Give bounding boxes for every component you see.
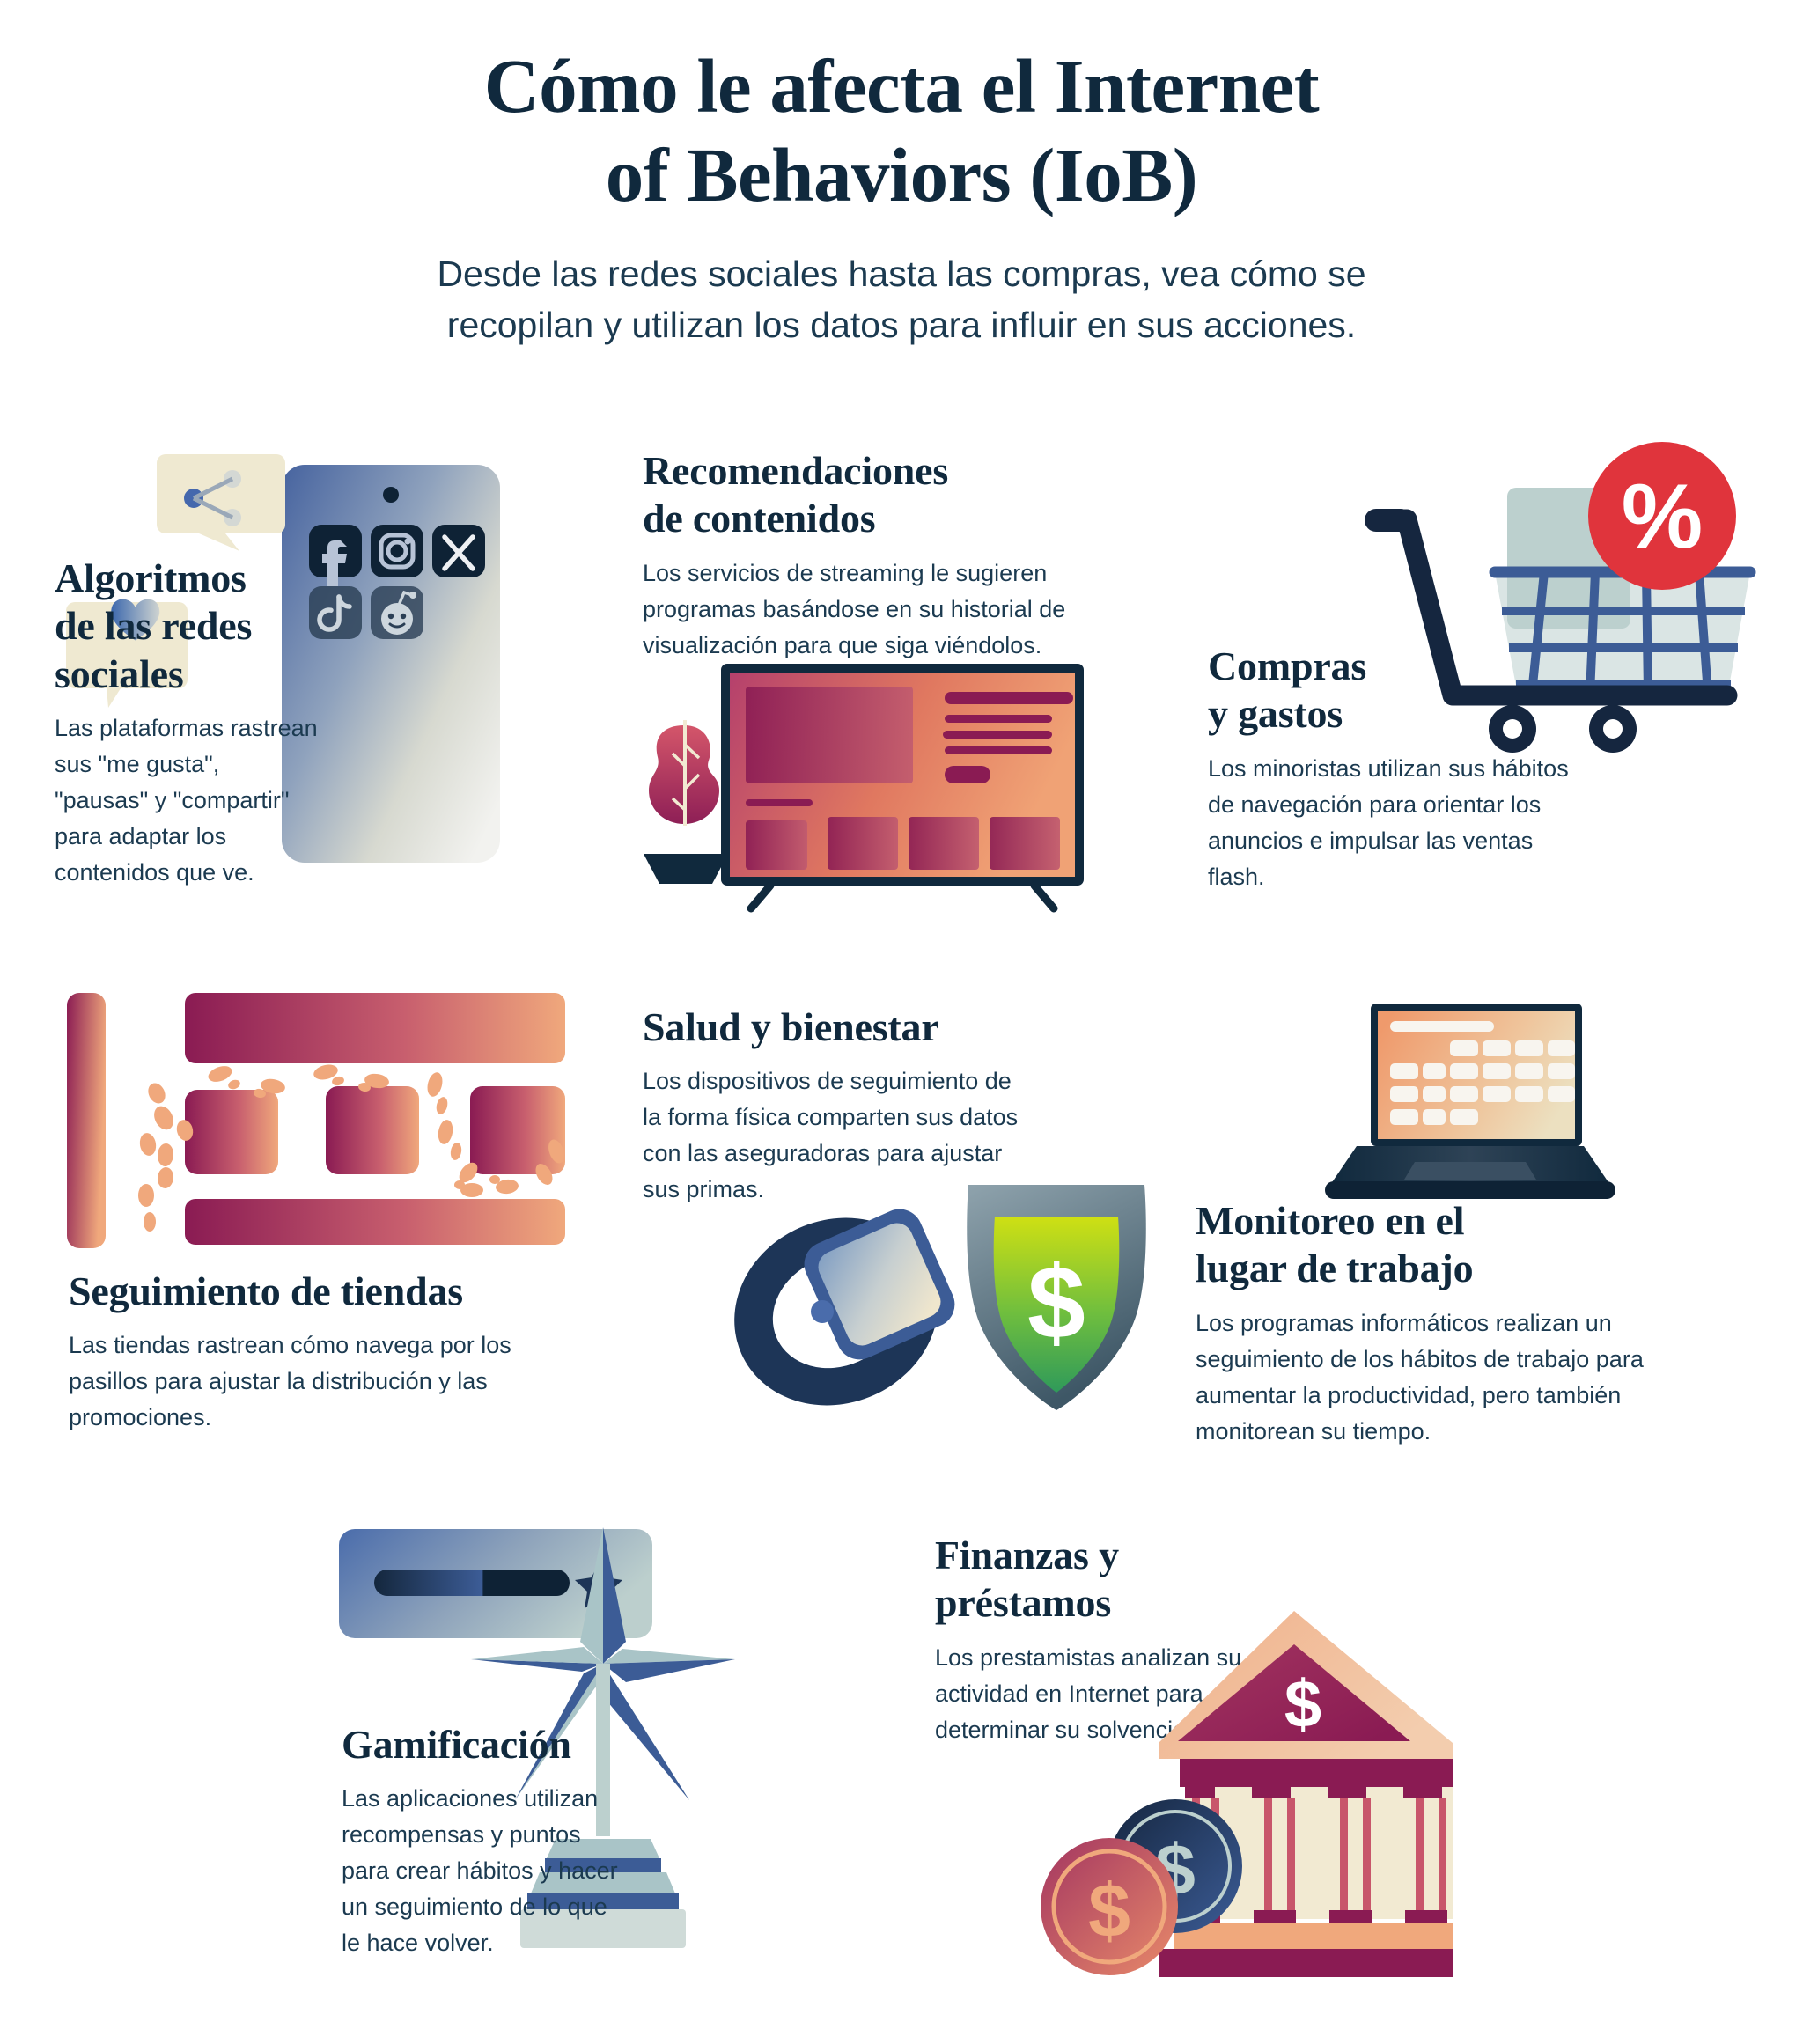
infographic-page: Cómo le afecta el Internet of Behaviors … xyxy=(0,0,1803,2044)
heading-line: Seguimiento de tiendas xyxy=(69,1268,526,1315)
section-body: Las tiendas rastrean cómo navega por los… xyxy=(69,1327,526,1436)
smartwatch-shield-illustration: $ xyxy=(704,1171,1162,1426)
heading-line: de contenidos xyxy=(643,495,1100,542)
section-body: Los minoristas utilizan sus hábitos de n… xyxy=(1208,751,1578,895)
heading-line: Salud y bienestar xyxy=(643,1004,1021,1051)
section-shopping-spending: Compras y gastos Los minoristas utilizan… xyxy=(1208,643,1578,895)
section-body: Los programas informáticos realizan un s… xyxy=(1196,1305,1689,1450)
heading-line: Monitoreo en el xyxy=(1196,1197,1689,1245)
heading-line: Recomendaciones xyxy=(643,447,1100,495)
heading-line: lugar de trabajo xyxy=(1196,1245,1689,1292)
section-gamification: Gamificación Las aplicaciones utilizan r… xyxy=(342,1721,623,1961)
smartwatch-icon xyxy=(704,1186,968,1437)
discount-badge: % xyxy=(1588,442,1736,590)
page-title-line-2: of Behaviors (IoB) xyxy=(0,131,1803,220)
coin-red: $ xyxy=(1041,1838,1178,1975)
heading-line: de las redes xyxy=(55,602,319,650)
page-subtitle-line-1: Desde las redes sociales hasta las compr… xyxy=(0,248,1803,299)
section-heading: Algoritmos de las redes sociales xyxy=(55,555,319,698)
section-body: Las aplicaciones utilizan recompensas y … xyxy=(342,1781,623,1961)
heading-line: y gastos xyxy=(1208,690,1578,738)
section-body: Las plataformas rastrean sus "me gusta",… xyxy=(55,710,319,891)
bank-coins-illustration: $ xyxy=(1012,1602,1453,1989)
laptop-illustration xyxy=(1307,986,1633,1206)
header: Cómo le afecta el Internet of Behaviors … xyxy=(0,42,1803,350)
reddit-icon xyxy=(371,586,423,639)
heading-line: sociales xyxy=(55,651,319,698)
progress-bar xyxy=(374,1570,570,1596)
bank-dollar-symbol: $ xyxy=(1284,1667,1321,1742)
section-heading: Seguimiento de tiendas xyxy=(69,1268,526,1315)
section-heading: Salud y bienestar xyxy=(643,1004,1021,1051)
store-floorplan-footsteps-illustration xyxy=(62,977,572,1276)
x-twitter-icon xyxy=(432,525,485,577)
page-subtitle-line-2: recopilan y utilizan los datos para infl… xyxy=(0,299,1803,350)
plant-decoration xyxy=(644,720,728,884)
heading-line: Gamificación xyxy=(342,1721,623,1768)
section-store-tracking: Seguimiento de tiendas Las tiendas rastr… xyxy=(69,1268,526,1436)
shield-icon: $ xyxy=(967,1185,1146,1410)
television-streaming-illustration xyxy=(629,634,1087,889)
section-content-recommendations: Recomendaciones de contenidos Los servic… xyxy=(643,447,1100,664)
section-workplace-monitoring: Monitoreo en el lugar de trabajo Los pro… xyxy=(1196,1197,1689,1450)
section-social-algorithms: Algoritmos de las redes sociales Las pla… xyxy=(55,555,319,891)
discount-badge-text: % xyxy=(1622,466,1703,568)
heading-line: Compras xyxy=(1208,643,1578,690)
page-title: Cómo le afecta el Internet of Behaviors … xyxy=(0,42,1803,220)
section-heading: Compras y gastos xyxy=(1208,643,1578,739)
section-heading: Gamificación xyxy=(342,1721,623,1768)
section-heading: Recomendaciones de contenidos xyxy=(643,447,1100,543)
heading-line: Algoritmos xyxy=(55,555,319,602)
page-subtitle: Desde las redes sociales hasta las compr… xyxy=(0,248,1803,350)
page-title-line-1: Cómo le afecta el Internet xyxy=(0,42,1803,131)
share-bubble xyxy=(157,454,285,551)
section-heading: Monitoreo en el lugar de trabajo xyxy=(1196,1197,1689,1293)
coin-red-symbol: $ xyxy=(1088,1869,1130,1953)
instagram-icon xyxy=(371,525,423,577)
shield-dollar-symbol: $ xyxy=(1027,1245,1085,1361)
